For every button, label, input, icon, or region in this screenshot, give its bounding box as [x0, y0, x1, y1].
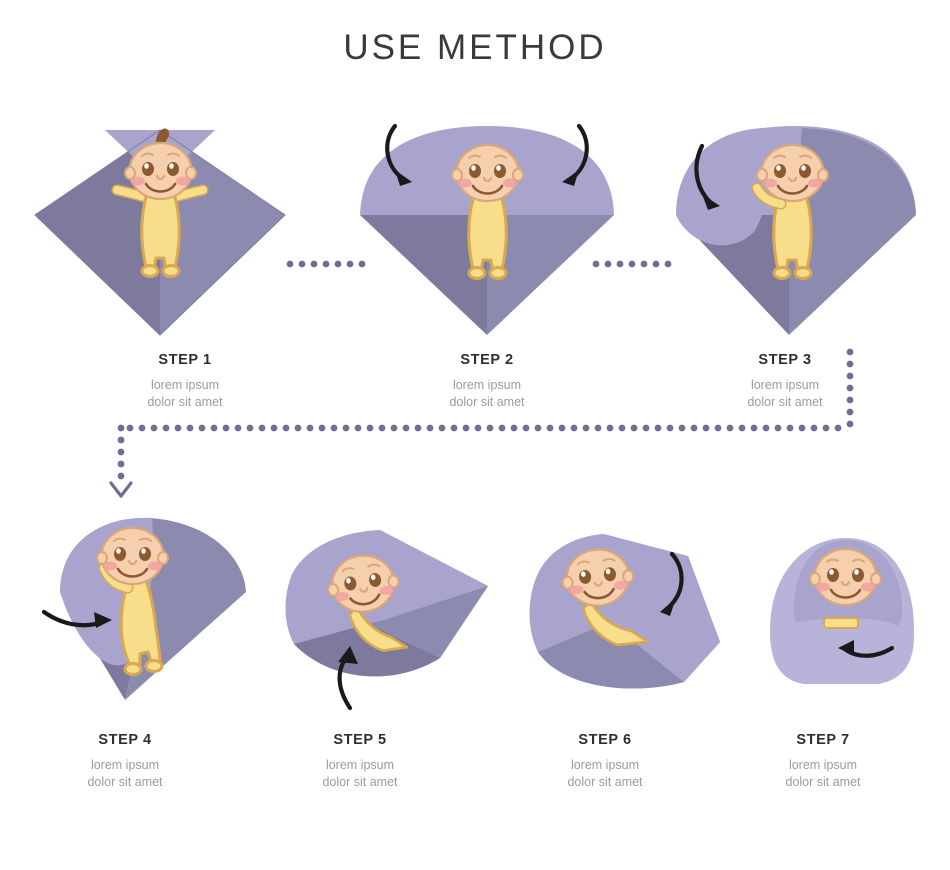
step-7-desc: lorem ipsum dolor sit amet	[713, 757, 933, 791]
step-5-caption: STEP 5 lorem ipsum dolor sit amet	[250, 732, 470, 791]
step-5-desc: lorem ipsum dolor sit amet	[250, 757, 470, 791]
step-6-caption: STEP 6 lorem ipsum dolor sit amet	[495, 732, 715, 791]
connector-vertical-left	[118, 437, 125, 480]
step-7-desc-line2: dolor sit amet	[713, 774, 933, 791]
step-2-illustration	[348, 120, 638, 340]
connector-vertical-right	[847, 349, 854, 428]
chevron-down-icon	[111, 483, 131, 496]
step-5-title: STEP 5	[250, 732, 470, 748]
step-6-illustration	[512, 512, 752, 717]
step-6-desc-line2: dolor sit amet	[495, 774, 715, 791]
step-4-desc: lorem ipsum dolor sit amet	[15, 757, 235, 791]
step-4-illustration	[30, 500, 280, 715]
step-3-illustration	[650, 120, 940, 340]
step-7-illustration	[742, 512, 942, 707]
connector-3-4	[108, 346, 868, 501]
step-6-title: STEP 6	[495, 732, 715, 748]
step-4-desc-line2: dolor sit amet	[15, 774, 235, 791]
step-5-illustration	[272, 512, 522, 717]
step-5-desc-line2: dolor sit amet	[250, 774, 470, 791]
step-4-title: STEP 4	[15, 732, 235, 748]
step-6-desc: lorem ipsum dolor sit amet	[495, 757, 715, 791]
step-4-desc-line1: lorem ipsum	[15, 757, 235, 774]
step-1-illustration	[25, 120, 315, 340]
page-title: USE METHOD	[0, 28, 950, 68]
infographic-root: USE METHOD	[0, 0, 950, 870]
step-4-caption: STEP 4 lorem ipsum dolor sit amet	[15, 732, 235, 791]
step-5-desc-line1: lorem ipsum	[250, 757, 470, 774]
step-7-caption: STEP 7 lorem ipsum dolor sit amet	[713, 732, 933, 791]
step-7-title: STEP 7	[713, 732, 933, 748]
connector-horizontal	[118, 425, 842, 432]
step-7-desc-line1: lorem ipsum	[713, 757, 933, 774]
step-6-desc-line1: lorem ipsum	[495, 757, 715, 774]
